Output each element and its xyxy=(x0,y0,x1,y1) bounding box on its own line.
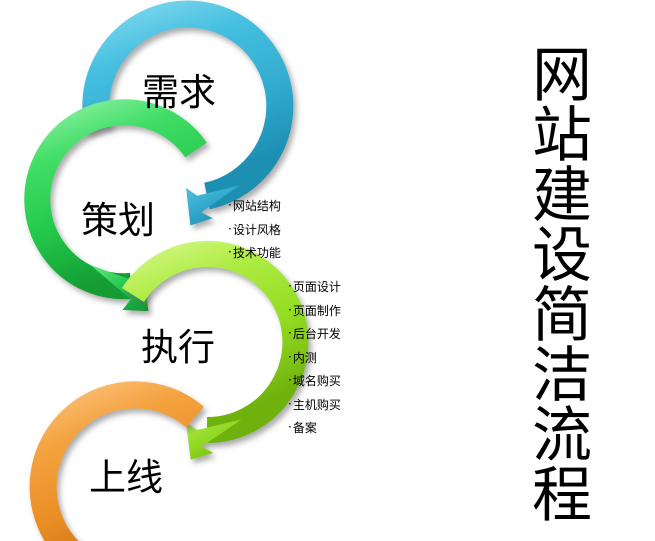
bullet-dot-icon: · xyxy=(288,275,292,298)
bullet-dot-icon: · xyxy=(288,416,292,439)
title-char: 设 xyxy=(527,226,597,286)
title-char: 洁 xyxy=(527,346,597,406)
footer-caption xyxy=(240,528,292,541)
bullet-text: 内测 xyxy=(293,351,317,365)
title-char: 网 xyxy=(527,46,597,106)
bullet-dot-icon: · xyxy=(288,346,292,369)
bullet-dot-icon: · xyxy=(288,393,292,416)
list-item: ·域名购买 xyxy=(288,369,341,393)
list-item: ·页面设计 xyxy=(288,275,341,299)
bullet-text: 网站结构 xyxy=(233,199,281,213)
title-char: 程 xyxy=(527,466,597,526)
bullet-text: 页面制作 xyxy=(293,304,341,318)
stage-label-planning: 策划 xyxy=(81,202,155,239)
bullet-text: 页面设计 xyxy=(293,280,341,294)
bullet-text: 备案 xyxy=(293,421,317,435)
list-item: ·设计风格 xyxy=(228,218,281,242)
process-diagram: 需求 策划 执行 上线 ·网站结构 ·设计风格 ·技术功能 ·页面设计 ·页面制… xyxy=(0,0,500,541)
bullet-dot-icon: · xyxy=(228,218,232,241)
bullet-list-execution: ·页面设计 ·页面制作 ·后台开发 ·内测 ·域名购买 ·主机购买 ·备案 xyxy=(288,275,341,440)
bullet-dot-icon: · xyxy=(288,322,292,345)
stage-label-launch: 上线 xyxy=(89,459,163,496)
bullet-text: 域名购买 xyxy=(293,374,341,388)
bullet-dot-icon: · xyxy=(288,299,292,322)
title-char: 流 xyxy=(527,406,597,466)
bullet-text: 技术功能 xyxy=(233,246,281,260)
title-char: 简 xyxy=(527,286,597,346)
list-item: ·后台开发 xyxy=(288,322,341,346)
bullet-text: 主机购买 xyxy=(293,398,341,412)
bullet-dot-icon: · xyxy=(228,241,232,264)
process-arcs xyxy=(0,0,500,541)
list-item: ·备案 xyxy=(288,416,341,440)
list-item: ·主机购买 xyxy=(288,393,341,417)
title-char: 站 xyxy=(527,106,597,166)
page-title: 网 站 建 设 简 洁 流 程 xyxy=(527,46,597,526)
stage-label-requirement: 需求 xyxy=(142,74,216,111)
title-char: 建 xyxy=(527,166,597,226)
bullet-dot-icon: · xyxy=(228,194,232,217)
bullet-dot-icon: · xyxy=(288,369,292,392)
list-item: ·页面制作 xyxy=(288,299,341,323)
list-item: ·技术功能 xyxy=(228,241,281,265)
list-item: ·内测 xyxy=(288,346,341,370)
stage-label-execution: 执行 xyxy=(141,329,215,366)
bullet-text: 后台开发 xyxy=(293,327,341,341)
slide-canvas: 需求 策划 执行 上线 ·网站结构 ·设计风格 ·技术功能 ·页面设计 ·页面制… xyxy=(0,0,655,541)
list-item: ·网站结构 xyxy=(228,194,281,218)
bullet-text: 设计风格 xyxy=(233,223,281,237)
bullet-list-planning: ·网站结构 ·设计风格 ·技术功能 xyxy=(228,194,281,265)
